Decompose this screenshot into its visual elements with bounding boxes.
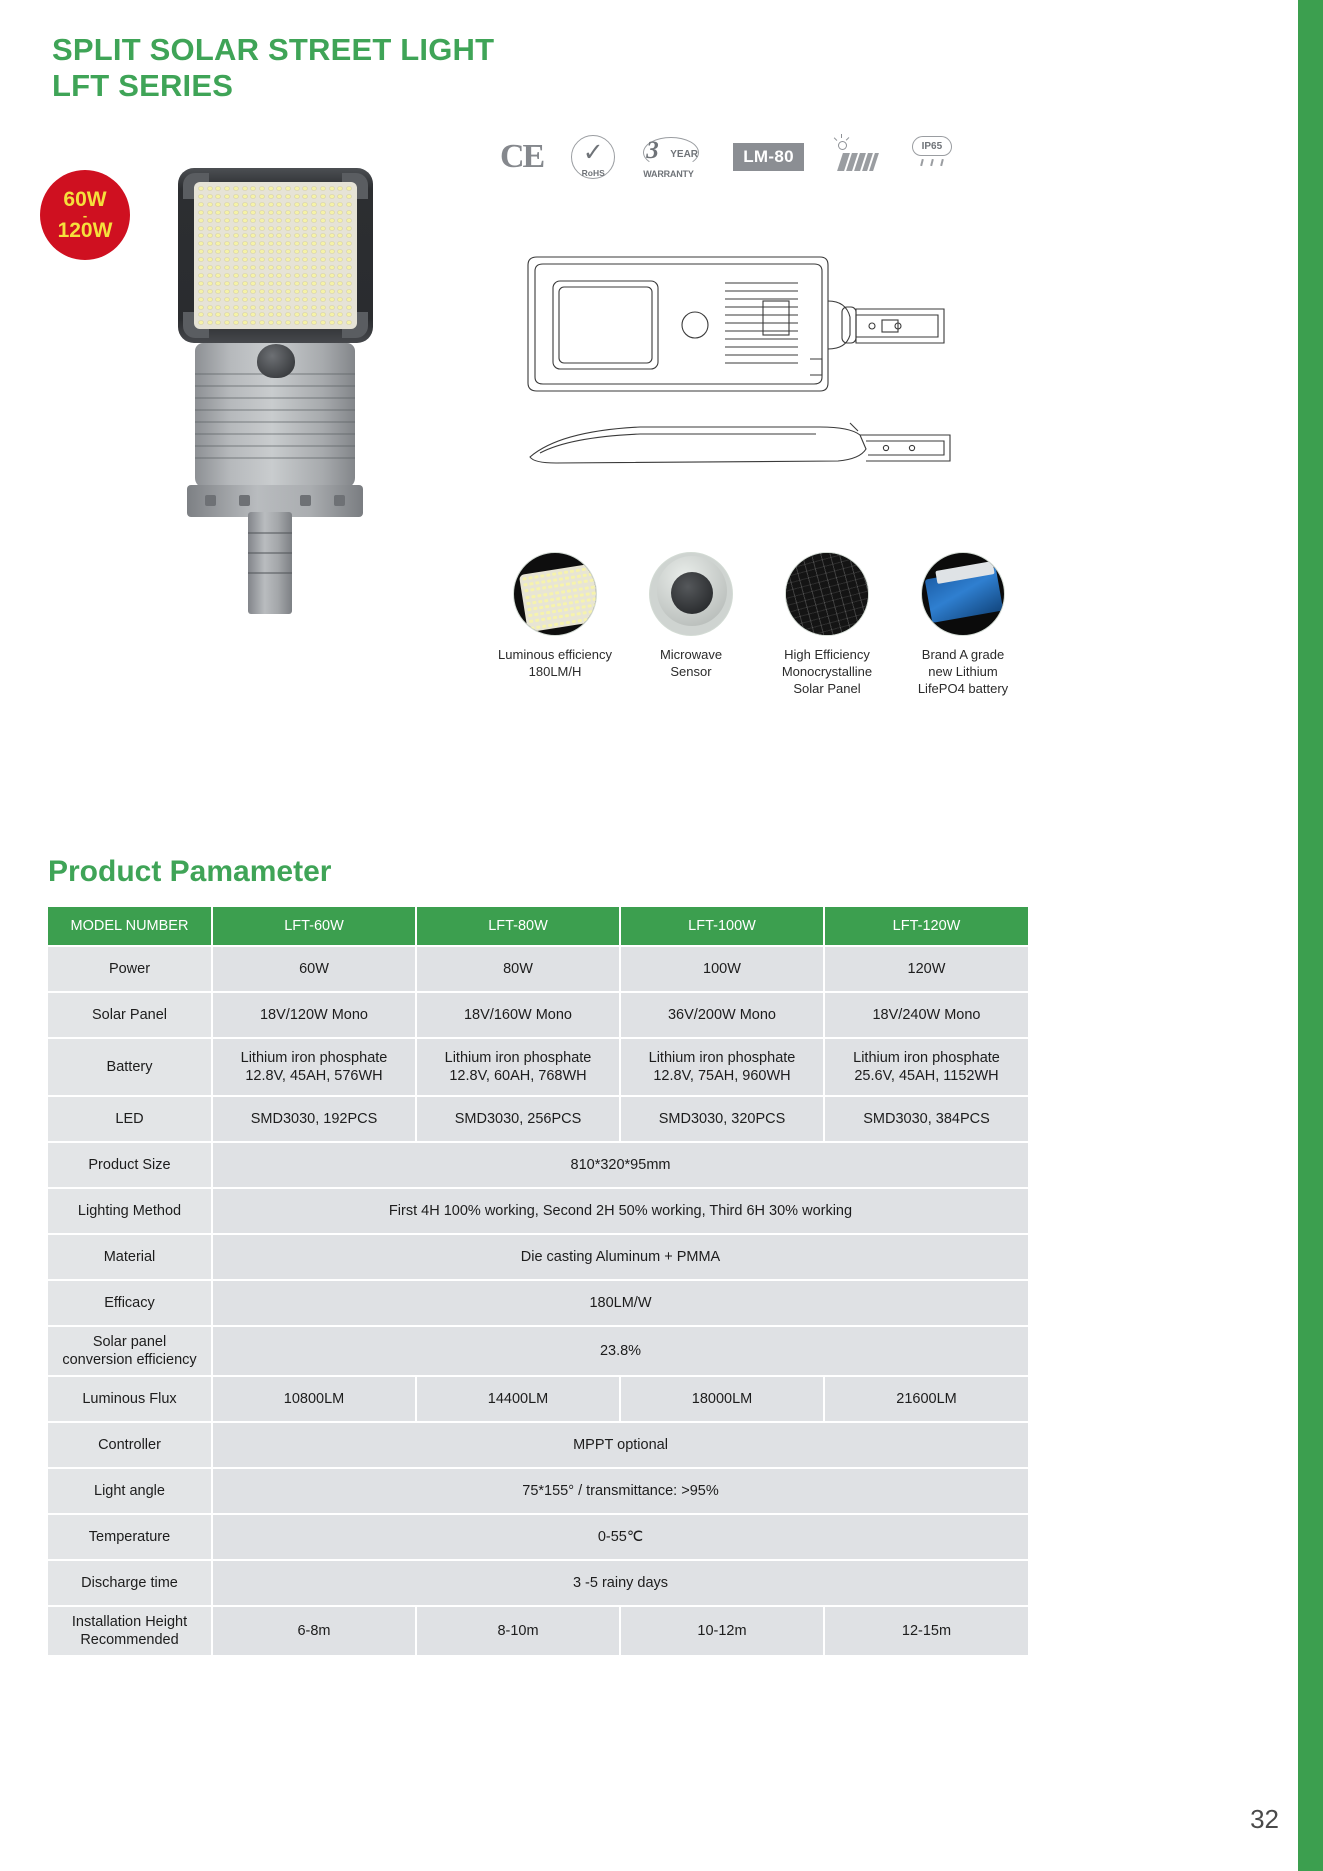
solar-panel-badge-icon	[832, 137, 880, 177]
table-row-label: Solar Panel	[48, 993, 211, 1037]
table-row: Efficacy180LM/W	[48, 1281, 1028, 1325]
table-row-label: Lighting Method	[48, 1189, 211, 1233]
table-cell: 0-55℃	[213, 1515, 1028, 1559]
solar-panel-icon	[785, 552, 869, 636]
table-cell: 18V/120W Mono	[213, 993, 415, 1037]
wattage-bottom: 120W	[58, 221, 113, 241]
table-cell: 75*155° / transmittance: >95%	[213, 1469, 1028, 1513]
feature-list: Luminous efficiency 180LM/H Microwave Se…	[498, 552, 1028, 697]
table-row: Light angle75*155° / transmittance: >95%	[48, 1469, 1028, 1513]
table-row: Product Size810*320*95mm	[48, 1143, 1028, 1187]
table-row: BatteryLithium iron phosphate12.8V, 45AH…	[48, 1039, 1028, 1095]
table-cell: 80W	[417, 947, 619, 991]
table-cell: SMD3030, 384PCS	[825, 1097, 1028, 1141]
table-cell: First 4H 100% working, Second 2H 50% wor…	[213, 1189, 1028, 1233]
feature-caption-line: Microwave	[660, 646, 722, 663]
feature-caption-line: Brand A grade	[918, 646, 1008, 663]
table-row: Installation HeightRecommended6-8m8-10m1…	[48, 1607, 1028, 1655]
table-cell: 100W	[621, 947, 823, 991]
table-row-label: Controller	[48, 1423, 211, 1467]
table-cell: 120W	[825, 947, 1028, 991]
table-row-label: Efficacy	[48, 1281, 211, 1325]
led-array	[194, 182, 357, 329]
right-green-edge-bar	[1298, 0, 1323, 1871]
product-photo	[165, 160, 380, 640]
table-cell: SMD3030, 256PCS	[417, 1097, 619, 1141]
feature-item: High Efficiency Monocrystalline Solar Pa…	[770, 552, 884, 697]
sensor-dome	[257, 344, 295, 378]
feature-caption-line: new Lithium	[918, 663, 1008, 680]
table-cell: 18V/240W Mono	[825, 993, 1028, 1037]
table-cell: 18V/160W Mono	[417, 993, 619, 1037]
feature-caption-line: Sensor	[660, 663, 722, 680]
table-row-label: Product Size	[48, 1143, 211, 1187]
microwave-sensor-icon	[649, 552, 733, 636]
battery-icon	[921, 552, 1005, 636]
table-header-cell: MODEL NUMBER	[48, 907, 211, 945]
table-row: Luminous Flux10800LM14400LM18000LM21600L…	[48, 1377, 1028, 1421]
feature-caption: Luminous efficiency 180LM/H	[498, 646, 612, 680]
table-row-label: Temperature	[48, 1515, 211, 1559]
feature-caption: High Efficiency Monocrystalline Solar Pa…	[782, 646, 872, 697]
table-cell: 18000LM	[621, 1377, 823, 1421]
table-cell: 6-8m	[213, 1607, 415, 1655]
ip65-icon: IP65	[908, 135, 956, 179]
wattage-badge: 60W - 120W	[40, 170, 130, 260]
feature-caption-line: LifePO4 battery	[918, 680, 1008, 697]
page-title: SPLIT SOLAR STREET LIGHT LFT SERIES	[52, 32, 494, 104]
ce-icon: CE	[500, 138, 543, 176]
feature-item: Microwave Sensor	[634, 552, 748, 697]
led-board-icon	[513, 552, 597, 636]
feature-caption-line: 180LM/H	[498, 663, 612, 680]
feature-caption-line: Solar Panel	[782, 680, 872, 697]
feature-caption-line: Luminous efficiency	[498, 646, 612, 663]
table-cell: 21600LM	[825, 1377, 1028, 1421]
table-row: MaterialDie casting Aluminum + PMMA	[48, 1235, 1028, 1279]
table-cell: Lithium iron phosphate12.8V, 60AH, 768WH	[417, 1039, 619, 1095]
table-row-label: Luminous Flux	[48, 1377, 211, 1421]
table-row: Solar Panel18V/120W Mono18V/160W Mono36V…	[48, 993, 1028, 1037]
table-cell: 3 -5 rainy days	[213, 1561, 1028, 1605]
table-row-label: Battery	[48, 1039, 211, 1095]
table-cell: 12-15m	[825, 1607, 1028, 1655]
table-row-label: Installation HeightRecommended	[48, 1607, 211, 1655]
table-cell: Lithium iron phosphate25.6V, 45AH, 1152W…	[825, 1039, 1028, 1095]
table-header-cell: LFT-80W	[417, 907, 619, 945]
table-row-label: LED	[48, 1097, 211, 1141]
table-cell: SMD3030, 320PCS	[621, 1097, 823, 1141]
table-cell: 810*320*95mm	[213, 1143, 1028, 1187]
table-cell: SMD3030, 192PCS	[213, 1097, 415, 1141]
table-header-cell: LFT-60W	[213, 907, 415, 945]
table-row: Lighting MethodFirst 4H 100% working, Se…	[48, 1189, 1028, 1233]
table-cell: MPPT optional	[213, 1423, 1028, 1467]
rohs-label: RoHS	[582, 168, 605, 178]
table-cell: 10800LM	[213, 1377, 415, 1421]
title-line-1: SPLIT SOLAR STREET LIGHT	[52, 32, 494, 68]
wattage-top: 60W	[63, 190, 106, 210]
technical-drawing	[520, 235, 960, 495]
ip65-label: IP65	[922, 141, 943, 152]
table-cell: Die casting Aluminum + PMMA	[213, 1235, 1028, 1279]
rohs-icon: ✓ RoHS	[571, 135, 615, 179]
table-cell: 23.8%	[213, 1327, 1028, 1375]
warranty-icon: 3 YEAR WARRANTY	[643, 135, 705, 179]
feature-caption-line: Monocrystalline	[782, 663, 872, 680]
table-cell: 180LM/W	[213, 1281, 1028, 1325]
table-row: LEDSMD3030, 192PCSSMD3030, 256PCSSMD3030…	[48, 1097, 1028, 1141]
table-header-cell: LFT-120W	[825, 907, 1028, 945]
feature-caption: Brand A grade new Lithium LifePO4 batter…	[918, 646, 1008, 697]
table-row-label: Solar panelconversion efficiency	[48, 1327, 211, 1375]
table-row: ControllerMPPT optional	[48, 1423, 1028, 1467]
table-row-label: Power	[48, 947, 211, 991]
table-cell: Lithium iron phosphate12.8V, 45AH, 576WH	[213, 1039, 415, 1095]
lamp-head	[178, 168, 373, 343]
table-cell: 10-12m	[621, 1607, 823, 1655]
page-number: 32	[1250, 1804, 1279, 1835]
table-cell: 60W	[213, 947, 415, 991]
table-row: Solar panelconversion efficiency23.8%	[48, 1327, 1028, 1375]
table-cell: 36V/200W Mono	[621, 993, 823, 1037]
table-cell: 8-10m	[417, 1607, 619, 1655]
title-line-2: LFT SERIES	[52, 68, 494, 104]
table-cell: Lithium iron phosphate12.8V, 75AH, 960WH	[621, 1039, 823, 1095]
table-row-label: Material	[48, 1235, 211, 1279]
warranty-number: 3	[646, 137, 659, 165]
table-row-label: Light angle	[48, 1469, 211, 1513]
feature-item: Luminous efficiency 180LM/H	[498, 552, 612, 697]
table-header-cell: LFT-100W	[621, 907, 823, 945]
table-row: Discharge time3 -5 rainy days	[48, 1561, 1028, 1605]
table-row: Power60W80W100W120W	[48, 947, 1028, 991]
product-parameter-table: MODEL NUMBERLFT-60WLFT-80WLFT-100WLFT-12…	[46, 905, 1030, 1657]
table-row-label: Discharge time	[48, 1561, 211, 1605]
table-header-row: MODEL NUMBERLFT-60WLFT-80WLFT-100WLFT-12…	[48, 907, 1028, 945]
lm80-icon: LM-80	[733, 143, 804, 171]
warranty-word-label: WARRANTY	[643, 169, 693, 179]
section-title: Product Pamameter	[48, 855, 331, 889]
feature-item: Brand A grade new Lithium LifePO4 batter…	[906, 552, 1020, 697]
certification-badge-row: CE ✓ RoHS 3 YEAR WARRANTY LM-80 IP6	[500, 133, 970, 181]
table-row: Temperature0-55℃	[48, 1515, 1028, 1559]
table-cell: 14400LM	[417, 1377, 619, 1421]
warranty-year-label: YEAR	[670, 149, 698, 160]
feature-caption-line: High Efficiency	[782, 646, 872, 663]
catalog-page: SPLIT SOLAR STREET LIGHT LFT SERIES CE ✓…	[0, 0, 1323, 1871]
table-body: Power60W80W100W120WSolar Panel18V/120W M…	[48, 947, 1028, 1655]
mounting-pole	[248, 512, 292, 614]
feature-caption: Microwave Sensor	[660, 646, 722, 680]
